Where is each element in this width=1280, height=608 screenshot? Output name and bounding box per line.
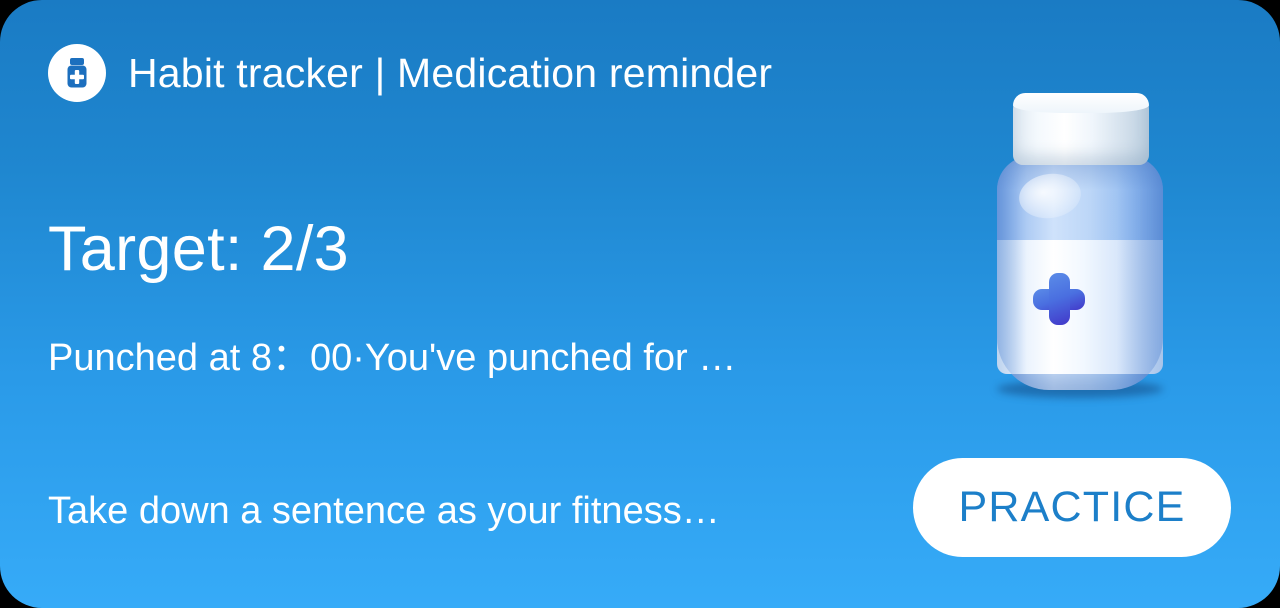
medical-cross-icon [1033, 273, 1085, 325]
practice-button[interactable]: PRACTICE [913, 458, 1231, 557]
medication-reminder-card: Habit tracker | Medication reminder Targ… [0, 0, 1280, 608]
punch-status-text: Punched at 8：00·You've punched for … [48, 326, 736, 381]
bottle-cap-top [1013, 93, 1149, 113]
medicine-bottle-icon [48, 44, 106, 102]
card-header: Habit tracker | Medication reminder [48, 44, 772, 102]
target-progress-text: Target: 2/3 [48, 213, 349, 285]
medicine-bottle-illustration [975, 88, 1185, 398]
app-title: Habit tracker | Medication reminder [128, 50, 772, 97]
habit-note-text: Take down a sentence as your fitness… [48, 490, 720, 533]
